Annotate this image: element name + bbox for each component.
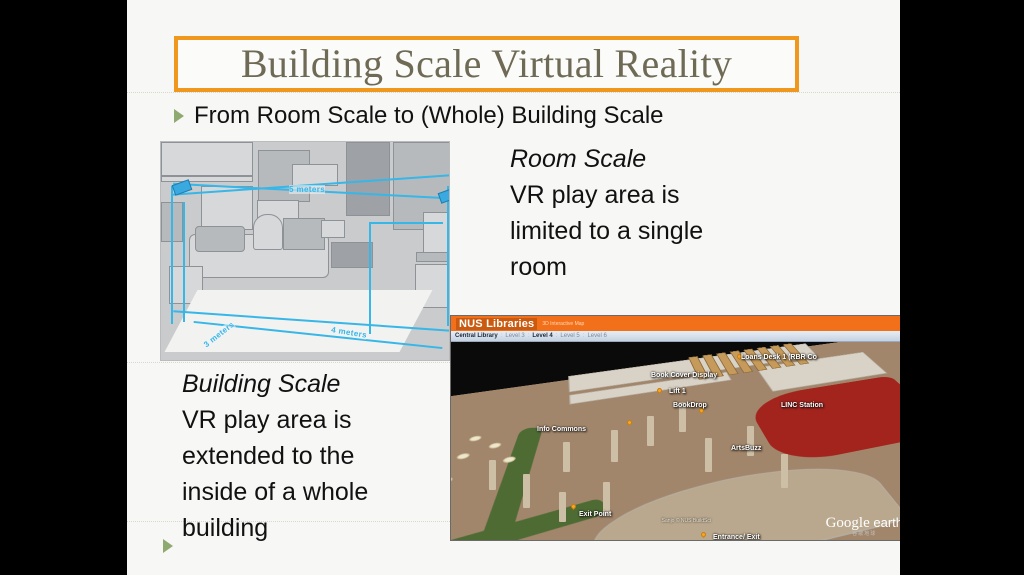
human-figure-icon [379,360,411,361]
bullet-item-label: From Room Scale to (Whole) Building Scal… [194,102,664,130]
breadcrumb-item-central-library[interactable]: Central Library [455,333,498,339]
breadcrumb-separator: : [528,333,530,339]
screen-root: Building Scale Virtual Reality From Room… [0,0,1024,575]
google-earth-wordmark-light: earth [870,515,900,530]
room-scale-line-1: VR play area is [510,177,840,213]
google-earth-wordmark: Google [826,515,870,531]
google-earth-watermark: Google earth 谷歌地球 [826,516,900,537]
room-scale-heading: Room Scale [510,141,840,177]
building-scale-line-1: VR play area is [182,402,482,438]
breadcrumb-separator: : [501,333,503,339]
breadcrumb-item-level-4[interactable]: Level 4 [532,333,552,339]
nus-libraries-logo: NUS Libraries [456,318,537,330]
map-label-entrance-exit[interactable]: Entrance/ Exit [713,534,760,541]
building-scale-heading: Building Scale [182,366,482,402]
map-label-lift-1[interactable]: Lift 1 [669,388,686,395]
map-credit-text: Sanjo © NUS BuildSci [662,518,711,524]
breadcrumb-item-level-5[interactable]: Level 5 [560,333,579,339]
bullet-item-empty [163,532,183,553]
presentation-slide: Building Scale Virtual Reality From Room… [127,0,900,575]
page-title: Building Scale Virtual Reality [241,42,732,86]
google-earth-wordmark-sub: 谷歌地球 [826,532,900,537]
building-scale-line-2: extended to the [182,438,482,474]
triangle-bullet-icon [163,539,173,553]
breadcrumb[interactable]: Central Library : Level 3 : Level 4 : Le… [451,331,900,342]
map-label-linc-station[interactable]: LINC Station [781,402,823,409]
room-scale-line-2: limited to a single [510,213,840,249]
building-scale-caption: Building Scale VR play area is extended … [182,366,482,546]
map-label-info-commons[interactable]: Info Commons [537,426,586,433]
map-label-book-cover-display[interactable]: Book Cover Display [651,372,717,379]
building-scale-line-3: inside of a whole [182,474,482,510]
room-scale-caption: Room Scale VR play area is limited to a … [510,141,840,285]
nus-titlebar: NUS Libraries 3D Interactive Map [451,316,900,331]
breadcrumb-item-level-3[interactable]: Level 3 [505,333,524,339]
dimension-label-width: 5 meters [289,185,325,194]
nus-map-subtitle: 3D Interactive Map [542,321,584,327]
map-label-loans-desk[interactable]: Loans Desk 1 (RBR Co [741,354,817,361]
slide-title-box: Building Scale Virtual Reality [174,36,799,92]
nus-libraries-window[interactable]: NUS Libraries 3D Interactive Map Central… [450,315,900,541]
map-label-exit-point[interactable]: Exit Point [579,511,611,518]
library-3d-map[interactable]: Loans Desk 1 (RBR Co Book Cover Display … [451,342,900,541]
theme-guide-line [127,92,900,93]
room-scale-illustration: 5 meters 4 meters 3 meters [160,141,450,361]
breadcrumb-separator: : [583,333,585,339]
bullet-item-main: From Room Scale to (Whole) Building Scal… [174,102,664,130]
breadcrumb-item-level-6[interactable]: Level 6 [587,333,606,339]
map-label-artsbuzz[interactable]: ArtsBuzz [731,445,761,452]
triangle-bullet-icon [174,109,184,123]
map-label-bookdrop[interactable]: BookDrop [673,402,707,409]
room-scale-line-3: room [510,249,840,285]
building-scale-line-4: building [182,510,482,546]
breadcrumb-separator: : [556,333,558,339]
